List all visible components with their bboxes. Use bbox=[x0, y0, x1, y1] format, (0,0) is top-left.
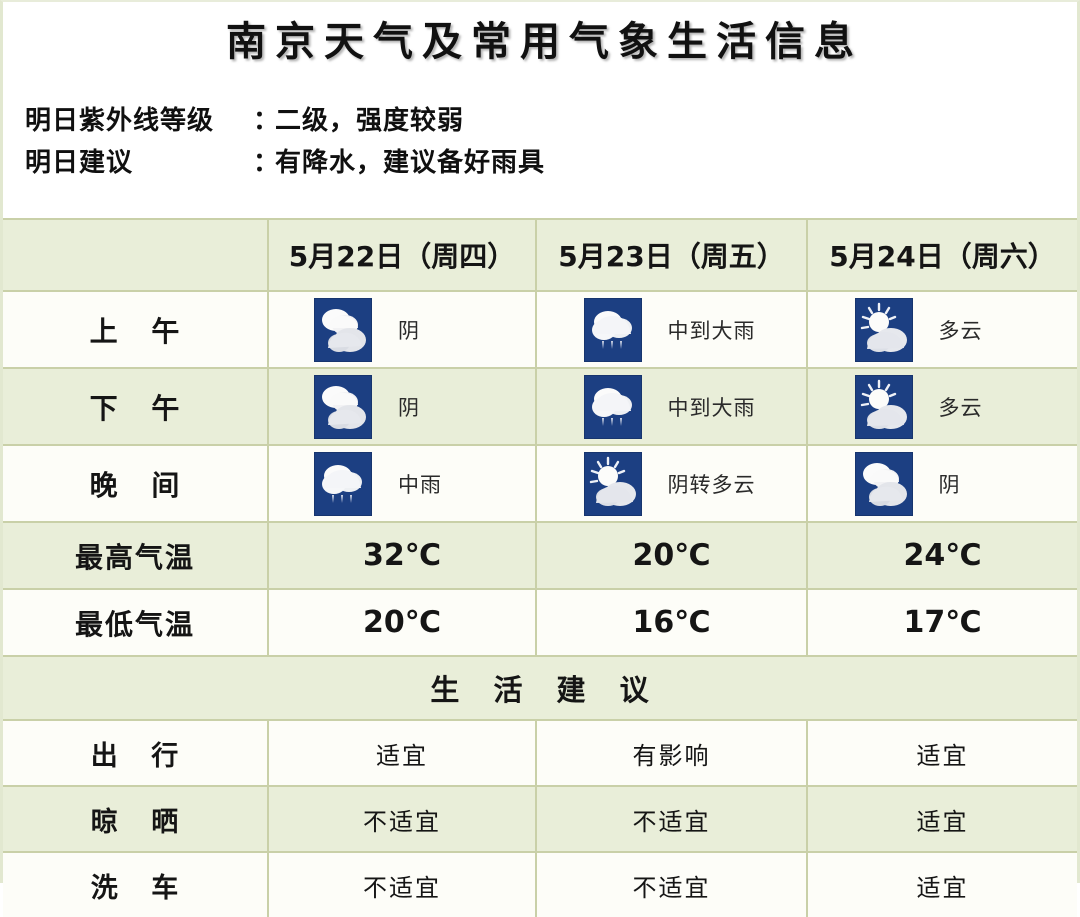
high-temp-day2: 20℃ bbox=[536, 522, 807, 589]
card-header: 南京天气及常用气象生活信息 明日紫外线等级 ： 二级，强度较弱 明日建议 ： 有… bbox=[3, 2, 1077, 220]
row-label-drying: 晾 晒 bbox=[3, 786, 268, 852]
afternoon-day2-condition: 中到大雨 bbox=[668, 392, 760, 422]
rain-cloud-icon bbox=[584, 375, 642, 439]
tomorrow-advice-row: 明日建议 ： 有降水，建议备好雨具 bbox=[25, 142, 1077, 184]
table-row-afternoon: 下 午 阴 bbox=[3, 368, 1077, 445]
table-row-low-temp: 最低气温 20℃ 16℃ 17℃ bbox=[3, 589, 1077, 656]
table-corner-cell bbox=[3, 220, 268, 291]
row-label-low-temp: 最低气温 bbox=[3, 589, 268, 656]
low-temp-day3: 17℃ bbox=[807, 589, 1077, 656]
table-row-morning: 上 午 阴 bbox=[3, 291, 1077, 368]
sun-behind-cloud-icon bbox=[855, 298, 913, 362]
row-label-carwash: 洗 车 bbox=[3, 852, 268, 917]
carwash-day1: 不适宜 bbox=[268, 852, 536, 917]
travel-day3: 适宜 bbox=[807, 720, 1077, 786]
overcast-clouds-icon bbox=[314, 298, 372, 362]
tomorrow-advice-value: 有降水，建议备好雨具 bbox=[275, 142, 545, 184]
evening-day1-cell: 中雨 bbox=[268, 445, 536, 522]
travel-day2: 有影响 bbox=[536, 720, 807, 786]
table-row-evening: 晚 间 bbox=[3, 445, 1077, 522]
low-temp-day1: 20℃ bbox=[268, 589, 536, 656]
table-header-row: 5月22日（周四） 5月23日（周五） 5月24日（周六） bbox=[3, 220, 1077, 291]
row-label-high-temp: 最高气温 bbox=[3, 522, 268, 589]
weather-info-card: 南京天气及常用气象生活信息 明日紫外线等级 ： 二级，强度较弱 明日建议 ： 有… bbox=[0, 0, 1080, 883]
row-label-travel: 出 行 bbox=[3, 720, 268, 786]
low-temp-day2: 16℃ bbox=[536, 589, 807, 656]
high-temp-day1: 32℃ bbox=[268, 522, 536, 589]
date-header-day1: 5月22日（周四） bbox=[268, 220, 536, 291]
drying-day1: 不适宜 bbox=[268, 786, 536, 852]
morning-day2-condition: 中到大雨 bbox=[668, 315, 760, 345]
evening-day3-cell: 阴 bbox=[807, 445, 1077, 522]
tomorrow-advice-separator: ： bbox=[253, 142, 275, 184]
rain-cloud-icon bbox=[314, 452, 372, 516]
row-label-morning: 上 午 bbox=[3, 291, 268, 368]
sun-behind-cloud-icon bbox=[855, 375, 913, 439]
evening-day3-condition: 阴 bbox=[939, 469, 1031, 499]
evening-day1-condition: 中雨 bbox=[398, 469, 490, 499]
overcast-clouds-icon bbox=[314, 375, 372, 439]
drying-day2: 不适宜 bbox=[536, 786, 807, 852]
morning-day3-cell: 多云 bbox=[807, 291, 1077, 368]
uv-level-separator: ： bbox=[253, 100, 275, 142]
sun-behind-cloud-icon bbox=[584, 452, 642, 516]
uv-level-row: 明日紫外线等级 ： 二级，强度较弱 bbox=[25, 100, 1077, 142]
evening-day2-condition: 阴转多云 bbox=[668, 469, 760, 499]
weather-table: 5月22日（周四） 5月23日（周五） 5月24日（周六） 上 午 bbox=[3, 220, 1077, 917]
evening-day2-cell: 阴转多云 bbox=[536, 445, 807, 522]
carwash-day2: 不适宜 bbox=[536, 852, 807, 917]
uv-level-label: 明日紫外线等级 bbox=[25, 100, 253, 142]
morning-day1-condition: 阴 bbox=[398, 315, 490, 345]
date-header-day3: 5月24日（周六） bbox=[807, 220, 1077, 291]
morning-day3-condition: 多云 bbox=[939, 315, 1031, 345]
uv-advice-block: 明日紫外线等级 ： 二级，强度较弱 明日建议 ： 有降水，建议备好雨具 bbox=[3, 100, 1077, 184]
life-advice-section-header: 生 活 建 议 bbox=[3, 656, 1077, 720]
afternoon-day2-cell: 中到大雨 bbox=[536, 368, 807, 445]
row-label-afternoon: 下 午 bbox=[3, 368, 268, 445]
overcast-clouds-icon bbox=[855, 452, 913, 516]
high-temp-day3: 24℃ bbox=[807, 522, 1077, 589]
morning-day1-cell: 阴 bbox=[268, 291, 536, 368]
drying-day3: 适宜 bbox=[807, 786, 1077, 852]
page-title: 南京天气及常用气象生活信息 bbox=[3, 18, 1077, 66]
morning-day2-cell: 中到大雨 bbox=[536, 291, 807, 368]
table-row-carwash: 洗 车 不适宜 不适宜 适宜 bbox=[3, 852, 1077, 917]
row-label-evening: 晚 间 bbox=[3, 445, 268, 522]
rain-cloud-icon bbox=[584, 298, 642, 362]
carwash-day3: 适宜 bbox=[807, 852, 1077, 917]
table-row-travel: 出 行 适宜 有影响 适宜 bbox=[3, 720, 1077, 786]
life-advice-title: 生 活 建 议 bbox=[3, 656, 1077, 720]
table-row-high-temp: 最高气温 32℃ 20℃ 24℃ bbox=[3, 522, 1077, 589]
travel-day1: 适宜 bbox=[268, 720, 536, 786]
afternoon-day3-cell: 多云 bbox=[807, 368, 1077, 445]
tomorrow-advice-label: 明日建议 bbox=[25, 142, 253, 184]
afternoon-day1-condition: 阴 bbox=[398, 392, 490, 422]
uv-level-value: 二级，强度较弱 bbox=[275, 100, 464, 142]
date-header-day2: 5月23日（周五） bbox=[536, 220, 807, 291]
afternoon-day3-condition: 多云 bbox=[939, 392, 1031, 422]
table-row-drying: 晾 晒 不适宜 不适宜 适宜 bbox=[3, 786, 1077, 852]
afternoon-day1-cell: 阴 bbox=[268, 368, 536, 445]
